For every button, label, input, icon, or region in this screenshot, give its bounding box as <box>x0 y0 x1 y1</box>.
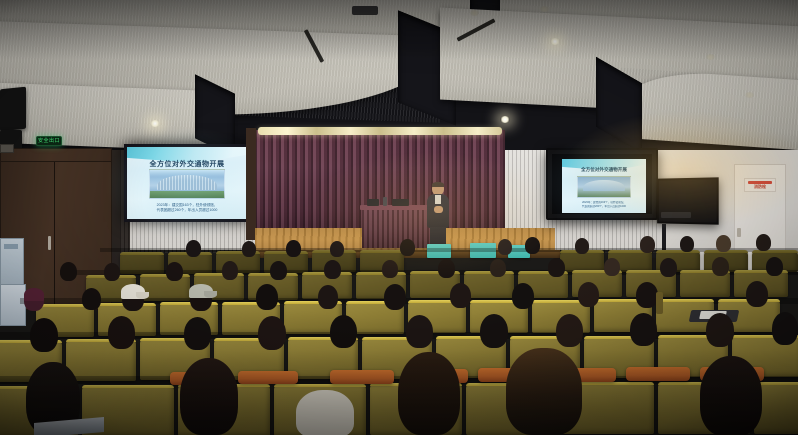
ceiling-spotlight <box>500 116 510 123</box>
right-door-handle[interactable] <box>737 228 741 237</box>
left-door-seam <box>54 162 55 308</box>
projection-screen: 全方位对外交通物开展 2023年：建交国163个，驻外使领馆、 代表团超过260… <box>124 144 250 222</box>
left-door-handle[interactable] <box>48 236 51 250</box>
table-item-box <box>367 199 379 206</box>
seat-cushion[interactable] <box>238 371 298 384</box>
seat-cushion[interactable] <box>626 367 690 381</box>
slide-photo-ground <box>150 191 225 198</box>
wall-control-panel[interactable] <box>0 144 14 153</box>
left-door-transom <box>0 148 112 162</box>
table-item-laptop <box>392 199 409 206</box>
ceiling-panel <box>620 68 798 150</box>
slide-title: 全方位对外交通物开展 <box>127 159 247 169</box>
ceiling-spotlight <box>745 92 754 98</box>
seat-armrest <box>656 292 663 314</box>
monitor-speaker-strip <box>661 212 691 218</box>
ceiling-spotlight <box>470 10 479 16</box>
slide-photo <box>149 169 226 199</box>
seat-cushion[interactable] <box>330 370 394 384</box>
wall-tv-display[interactable]: 全方位对外交通物开展 2023年：建交国163个，驻外使领馆、 代表团超过260… <box>546 148 658 220</box>
cap <box>24 288 44 301</box>
tv-slide-caption: 2023年：建交国163个，驻外使领馆、 代表团超过260个，年出入员超过100… <box>569 201 640 209</box>
tv-slide-content: 全方位对外交通物开展 2023年：建交国163个，驻外使领馆、 代表团超过260… <box>562 159 646 213</box>
lecture-hall-photo: 安全出口 全方位对外交通物开展 2023年：建交国163个，驻外使领馆、 代表团… <box>0 0 798 435</box>
slide-caption-line-2: 代表团超过260个，年出入员超过1000 <box>134 208 240 213</box>
door-sign-text: 消防栓 <box>754 185 766 189</box>
speaker-hands <box>434 206 443 213</box>
speaker-shirt <box>435 195 441 204</box>
slide-caption: 2023年：建交国163个，驻外使领馆、 代表团超过260个，年出入员超过100… <box>134 203 240 213</box>
slide-photo-building <box>157 175 217 191</box>
slide-content: 全方位对外交通物开展 2023年：建交国163个，驻外使领馆、 代表团超过260… <box>127 147 247 219</box>
ceiling-spotlight <box>706 54 715 60</box>
ceiling-spotlight <box>540 6 549 12</box>
ceiling-spotlight <box>550 38 560 45</box>
supply-box-stack-2 <box>0 284 26 326</box>
exit-sign: 安全出口 <box>36 136 62 146</box>
exit-sign-label: 安全出口 <box>38 139 60 144</box>
stage-proscenium-edge <box>246 128 256 240</box>
ceiling-speaker-left <box>0 87 26 132</box>
tv-slide-photo <box>577 176 631 198</box>
seat[interactable] <box>464 271 514 298</box>
table-item-bottle <box>383 197 387 206</box>
speaker-hair <box>432 182 444 187</box>
cap-brim <box>204 291 217 298</box>
fire-equipment-sign: 消防栓 <box>744 178 776 192</box>
ceiling-projector-mount <box>352 6 378 15</box>
supply-box-label <box>4 244 18 249</box>
tv-slide-title: 全方位对外交通物开展 <box>562 167 646 173</box>
ceiling-spotlight <box>150 120 160 127</box>
cap-brim <box>136 292 149 299</box>
presenter-table <box>362 208 430 248</box>
stage-light-bar <box>258 127 502 135</box>
